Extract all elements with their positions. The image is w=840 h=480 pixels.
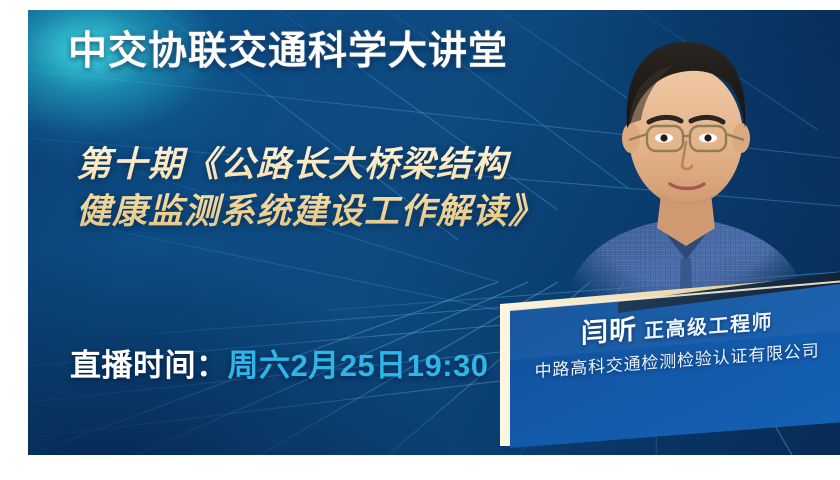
- broadcast-time-row: 直播时间：周六2月25日19:30: [70, 340, 489, 385]
- speaker-name: 闫昕: [581, 314, 637, 348]
- broadcast-time-value: 周六2月25日19:30: [228, 348, 489, 383]
- poster-subtitle: 第十期《公路长大桥梁结构 健康监测系统建设工作解读》: [76, 142, 544, 235]
- poster-headline: 中交协联交通科学大讲堂: [68, 32, 508, 71]
- poster-artwork: 中交协联交通科学大讲堂 第十期《公路长大桥梁结构 健康监测系统建设工作解读》 直…: [28, 10, 840, 455]
- broadcast-time-label: 直播时间：: [70, 348, 228, 383]
- speaker-job-title: 正高级工程师: [644, 311, 773, 342]
- subtitle-line-2: 健康监测系统建设工作解读》: [76, 189, 544, 236]
- plaque-text-block: 闫昕正高级工程师 中路高科交通检测检验认证有限公司: [498, 254, 840, 455]
- subtitle-line-1: 第十期《公路长大桥梁结构: [76, 142, 544, 189]
- poster-canvas: 中交协联交通科学大讲堂 第十期《公路长大桥梁结构 健康监测系统建设工作解读》 直…: [0, 0, 840, 480]
- speaker-plaque: 闫昕正高级工程师 中路高科交通检测检验认证有限公司: [498, 268, 840, 453]
